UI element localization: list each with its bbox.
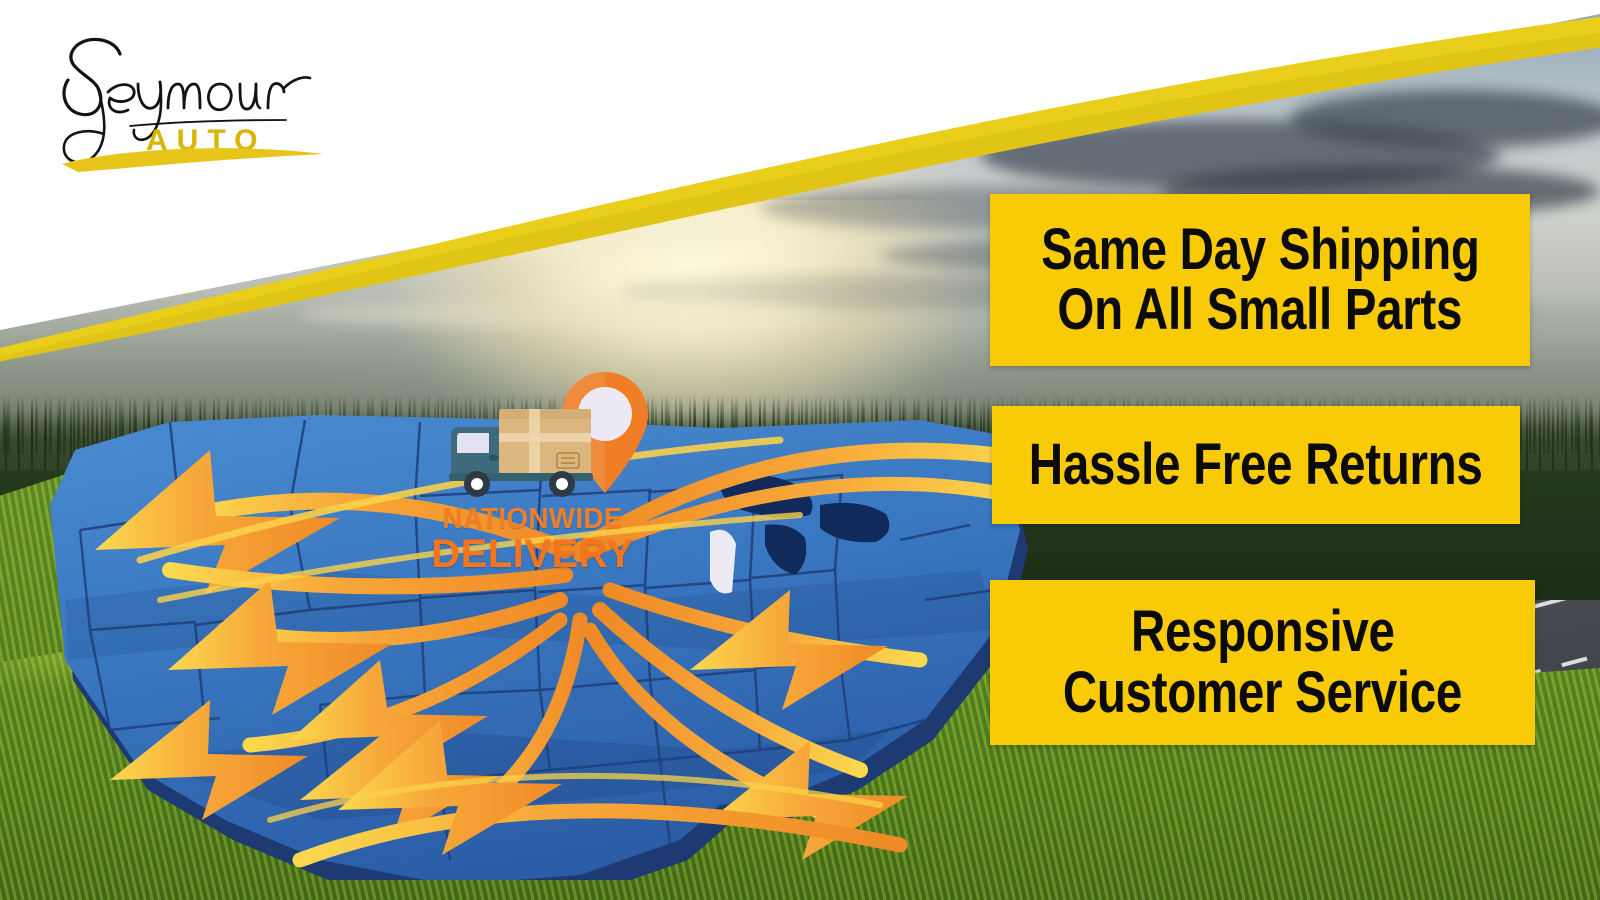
feature-panel-same-day-shipping[interactable]: Same Day Shipping On All Small Parts xyxy=(990,194,1530,366)
promotional-banner: NATIONWIDE DELIVERY xyxy=(0,0,1600,900)
feature-panel-hassle-free-returns[interactable]: Hassle Free Returns xyxy=(992,406,1520,524)
badge-line-2: DELIVERY xyxy=(425,535,640,574)
panel-3-line-1: Responsive xyxy=(1131,602,1395,662)
panel-3-line-2: Customer Service xyxy=(1063,663,1462,723)
nationwide-delivery-badge: NATIONWIDE DELIVERY xyxy=(425,365,655,580)
panel-2-line-1: Hassle Free Returns xyxy=(1029,435,1483,495)
seymour-auto-logo[interactable]: AUTO xyxy=(34,22,344,172)
feature-panel-responsive-customer-service[interactable]: Responsive Customer Service xyxy=(990,580,1535,745)
delivery-truck-icon xyxy=(443,405,598,500)
badge-line-1: NATIONWIDE xyxy=(429,505,635,533)
nationwide-delivery-text: NATIONWIDE DELIVERY xyxy=(425,505,640,575)
panel-1-line-1: Same Day Shipping xyxy=(1041,220,1479,280)
panel-1-line-2: On All Small Parts xyxy=(1058,280,1463,340)
